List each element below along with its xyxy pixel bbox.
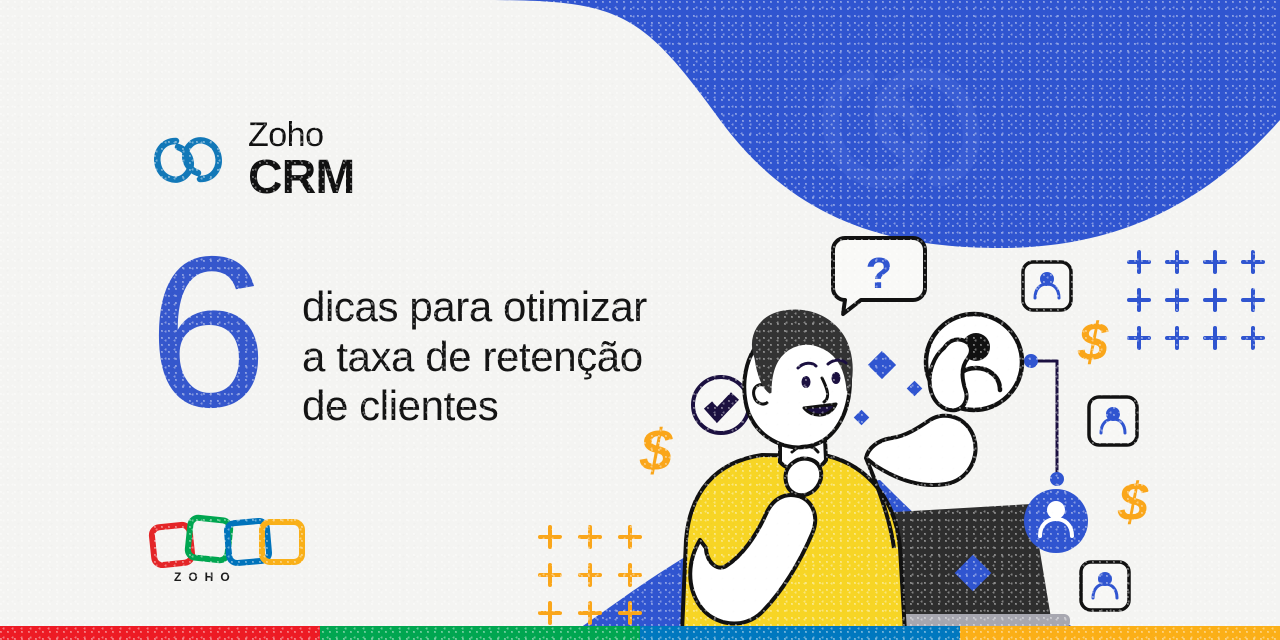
headline-line-2: a taxa de retenção [302, 332, 647, 382]
logo-text-zoho: Zoho [248, 118, 354, 152]
zoho-infinity-logo [146, 129, 230, 191]
person-avatar-filled [1024, 489, 1088, 553]
plus-grid-blue [1129, 252, 1263, 348]
zoho-corporate-logo[interactable]: ZOHO [140, 506, 320, 584]
zoho-crm-logo[interactable]: Zoho CRM [146, 118, 354, 202]
headline-block: 6 dicas para otimizar a taxa de retenção… [148, 248, 647, 431]
checkmark-badge [693, 377, 749, 433]
dollar-sign-3: $ [1117, 472, 1149, 532]
dollar-sign-2: $ [1077, 312, 1109, 372]
diamond-2 [907, 381, 923, 397]
headline-line-3: de clientes [302, 381, 647, 431]
bar-green [320, 626, 640, 640]
tile-green [187, 517, 231, 561]
headline-text: dicas para otimizar a taxa de retenção d… [302, 282, 647, 431]
bar-yellow [960, 626, 1280, 640]
diamond-1 [868, 351, 896, 379]
connector-dot-bottom [1050, 472, 1064, 486]
avatar-card-3 [1081, 562, 1129, 610]
zoho-tiles [140, 506, 320, 568]
headline-line-1: dicas para otimizar [302, 282, 647, 332]
plus-grid-orange [540, 527, 640, 623]
promo-banner: $ $ $ ? [0, 0, 1280, 640]
headline-number: 6 [148, 248, 288, 416]
brand-color-bar [0, 626, 1280, 640]
connector-line [1031, 361, 1057, 479]
avatar-card-1 [1023, 262, 1071, 310]
bar-red [0, 626, 320, 640]
sad-face-avatar-icon [926, 314, 1022, 410]
diamond-3 [854, 410, 870, 426]
speech-bubble-question: ? [833, 238, 925, 314]
zoho-wordmark: ZOHO [174, 570, 320, 584]
logo-text-crm: CRM [248, 154, 354, 202]
connector-dot-top [1024, 354, 1038, 368]
svg-text:?: ? [866, 249, 893, 298]
avatar-card-2 [1089, 397, 1137, 445]
bar-blue [640, 626, 960, 640]
